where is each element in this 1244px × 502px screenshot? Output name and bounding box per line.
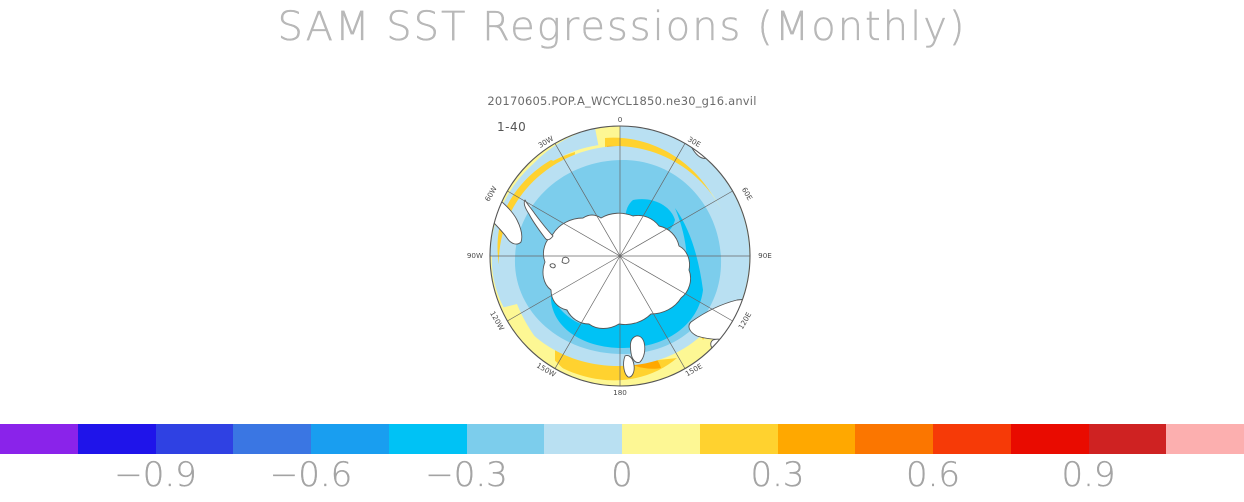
lon-label-120E: 120E [736, 310, 753, 331]
map-panel: 20170605.POP.A_WCYCL1850.ne30_g16.anvil … [0, 0, 1244, 410]
colorbar[interactable] [0, 424, 1244, 454]
colorbar-cell-7[interactable] [544, 424, 622, 454]
new-zealand-outline [630, 336, 644, 363]
lon-label-90W: 90W [467, 251, 483, 260]
colorbar-cell-1[interactable] [78, 424, 156, 454]
lon-label-0: 0 [618, 115, 623, 124]
lon-label-60E: 60E [740, 186, 755, 203]
lon-label-60W: 60W [483, 184, 499, 203]
madagascar-outline [715, 144, 731, 166]
colorbar-cell-14[interactable] [1089, 424, 1167, 454]
colorbar-cell-13[interactable] [1011, 424, 1089, 454]
colorbar-tick--0.6: −0.6 [270, 455, 353, 495]
colorbar-cell-10[interactable] [778, 424, 856, 454]
lon-label-180: 180 [613, 388, 627, 397]
colorbar-cell-2[interactable] [156, 424, 234, 454]
colorbar-tick--0.3: −0.3 [425, 455, 508, 495]
colorbar-tick-0.6: 0.6 [906, 455, 960, 495]
colorbar-tick-0.3: 0.3 [750, 455, 804, 495]
colorbar-cell-9[interactable] [700, 424, 778, 454]
colorbar-cell-0[interactable] [0, 424, 78, 454]
map-svg: 0 30E 60E 90E 120E 150E 180 150W 120W 90… [455, 108, 785, 403]
colorbar-cell-3[interactable] [233, 424, 311, 454]
colorbar-cell-12[interactable] [933, 424, 1011, 454]
colorbar-tick-0.9: 0.9 [1061, 455, 1115, 495]
colorbar-cell-6[interactable] [467, 424, 545, 454]
colorbar-tick--0.9: −0.9 [114, 455, 197, 495]
colorbar-cell-5[interactable] [389, 424, 467, 454]
polar-stereographic-map[interactable]: 0 30E 60E 90E 120E 150E 180 150W 120W 90… [455, 108, 785, 403]
small-island-outline [550, 264, 555, 268]
south-georgia-outline [562, 257, 569, 263]
case-subtitle: 20170605.POP.A_WCYCL1850.ne30_g16.anvil [0, 94, 1244, 108]
colorbar-tick-labels: −0.9−0.6−0.300.30.60.9 [0, 455, 1244, 502]
lon-label-90E: 90E [758, 251, 772, 260]
colorbar-cell-15[interactable] [1166, 424, 1244, 454]
colorbar-cell-4[interactable] [311, 424, 389, 454]
colorbar-cell-11[interactable] [855, 424, 933, 454]
colorbar-cell-8[interactable] [622, 424, 700, 454]
colorbar-tick-0: 0 [611, 455, 633, 495]
